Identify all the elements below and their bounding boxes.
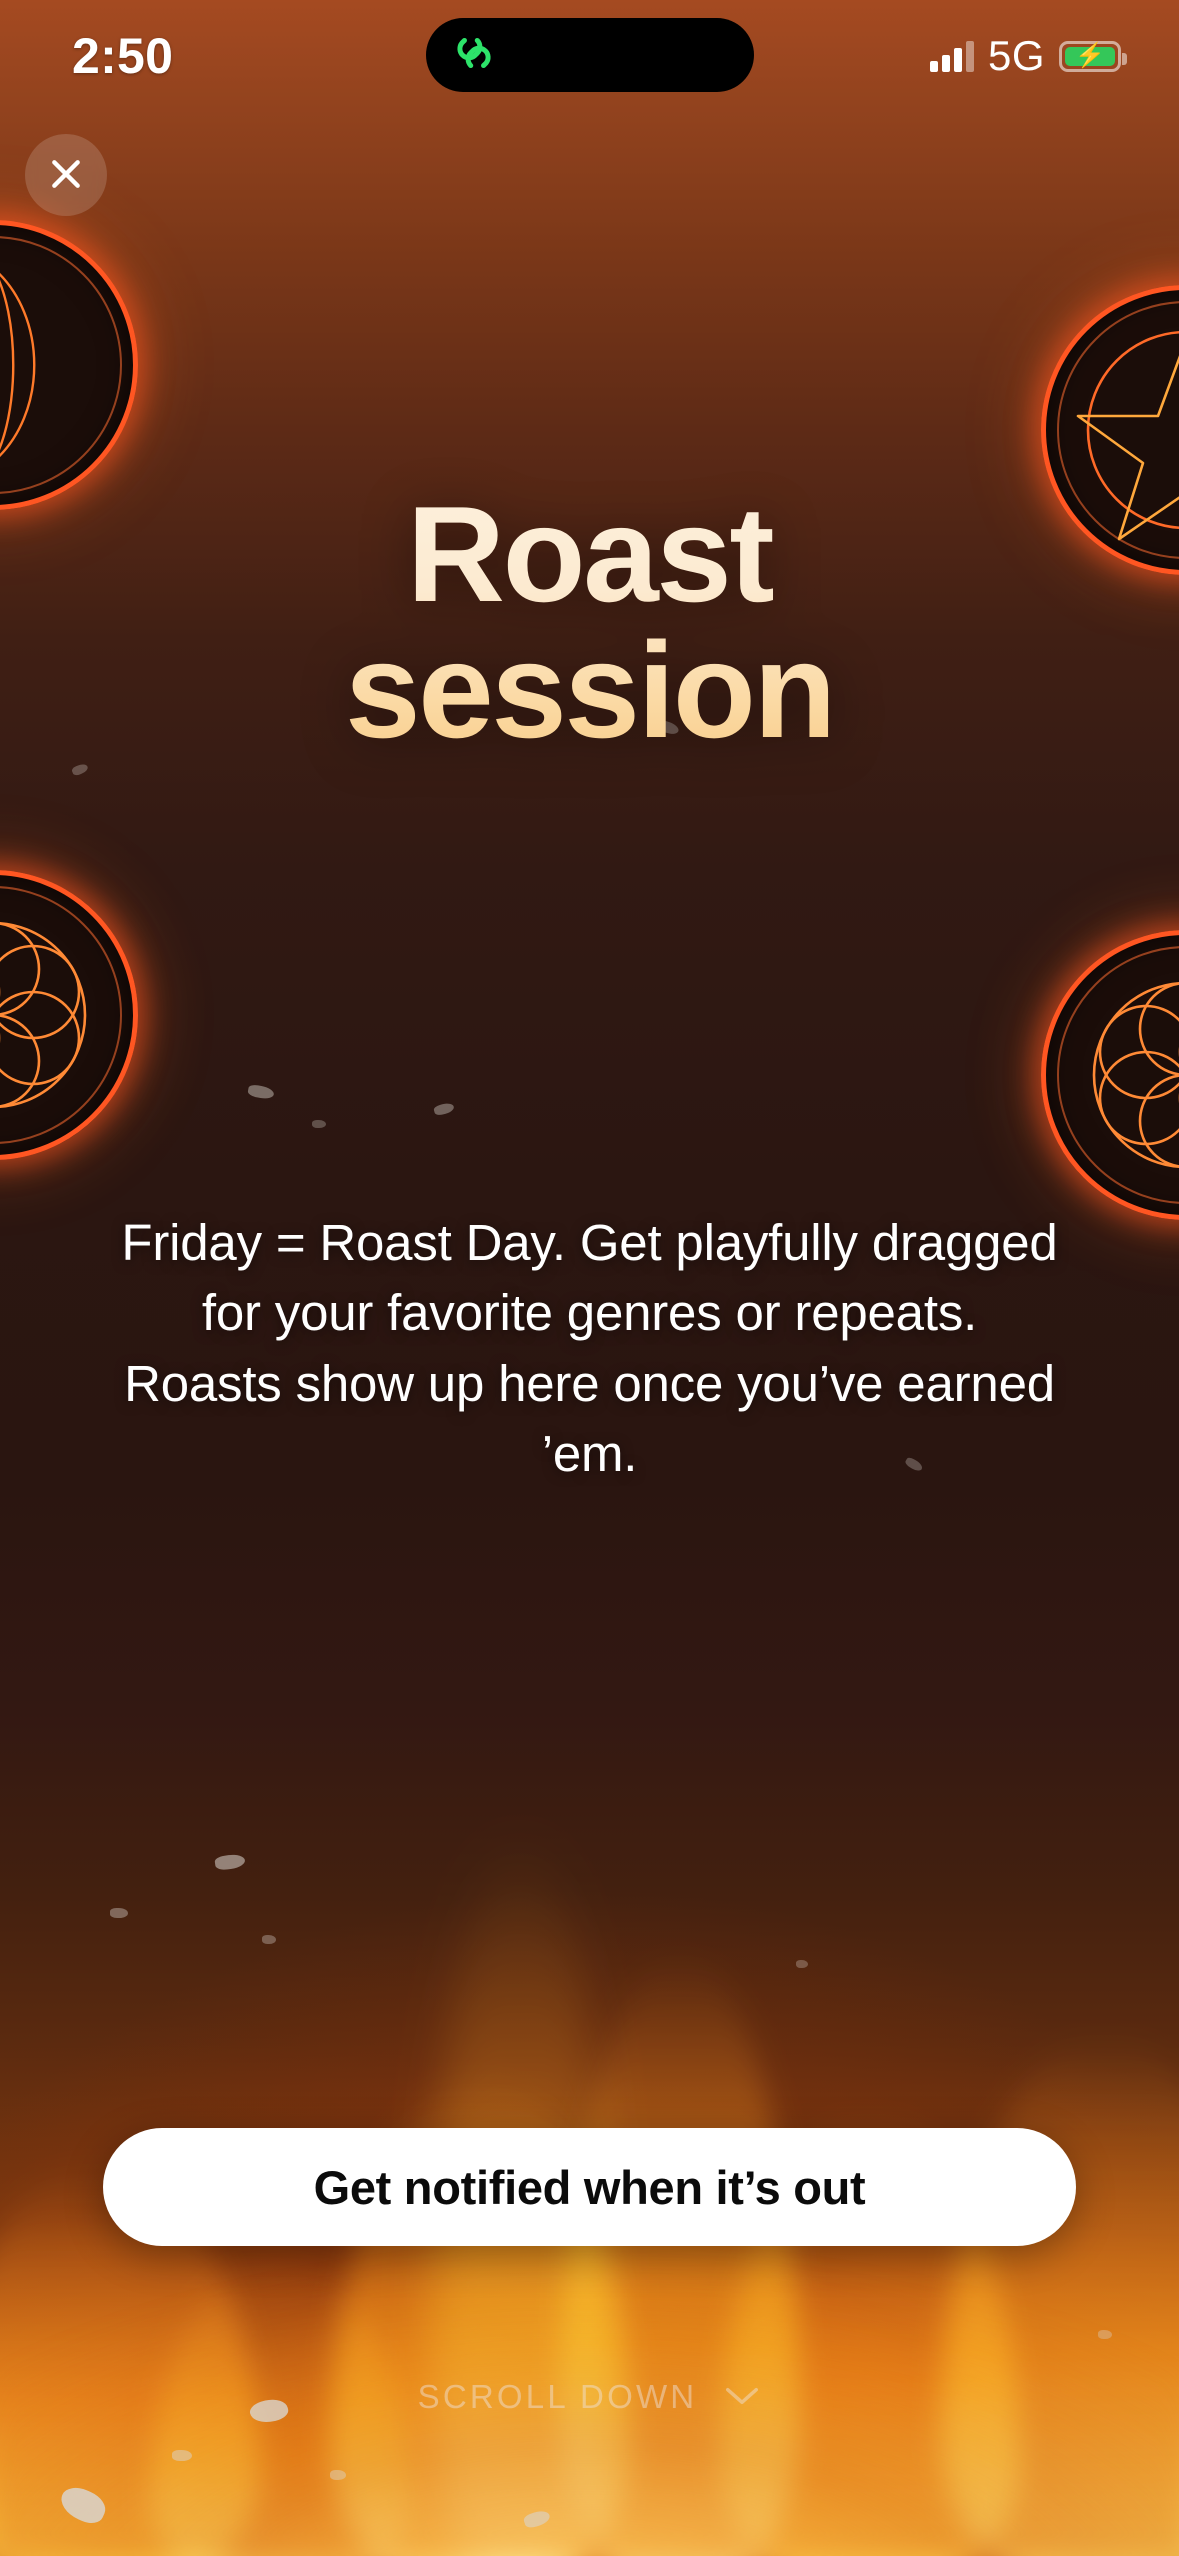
get-notified-button[interactable]: Get notified when it’s out xyxy=(103,2128,1076,2246)
description-line-2: Roasts show up here once you’ve earned ’… xyxy=(100,1349,1079,1490)
close-button[interactable] xyxy=(25,134,107,216)
chevron-down-icon xyxy=(723,2378,761,2416)
description-line-1: Friday = Roast Day. Get playfully dragge… xyxy=(100,1208,1079,1349)
dynamic-island[interactable] xyxy=(426,18,754,92)
network-type-label: 5G xyxy=(988,32,1045,80)
status-clock: 2:50 xyxy=(72,27,173,85)
status-bar: 2:50 5G ⚡ xyxy=(0,0,1179,112)
page-title-line-2: session xyxy=(345,614,834,766)
signal-bars-icon xyxy=(930,40,974,72)
scroll-down-label: SCROLL DOWN xyxy=(418,2378,698,2416)
status-indicators: 5G ⚡ xyxy=(930,32,1121,80)
app-screen: 2:50 5G ⚡ xyxy=(0,0,1179,2556)
green-link-activity-icon xyxy=(448,27,500,84)
description: Friday = Roast Day. Get playfully dragge… xyxy=(0,1208,1179,1490)
battery-charging-icon: ⚡ xyxy=(1059,41,1121,72)
page-title: Roast session xyxy=(0,486,1179,758)
page-title-line-1: Roast xyxy=(407,478,772,630)
main-content: Roast session Friday = Roast Day. Get pl… xyxy=(0,0,1179,2556)
close-icon xyxy=(46,154,86,197)
scroll-down-indicator[interactable]: SCROLL DOWN xyxy=(0,2378,1179,2416)
